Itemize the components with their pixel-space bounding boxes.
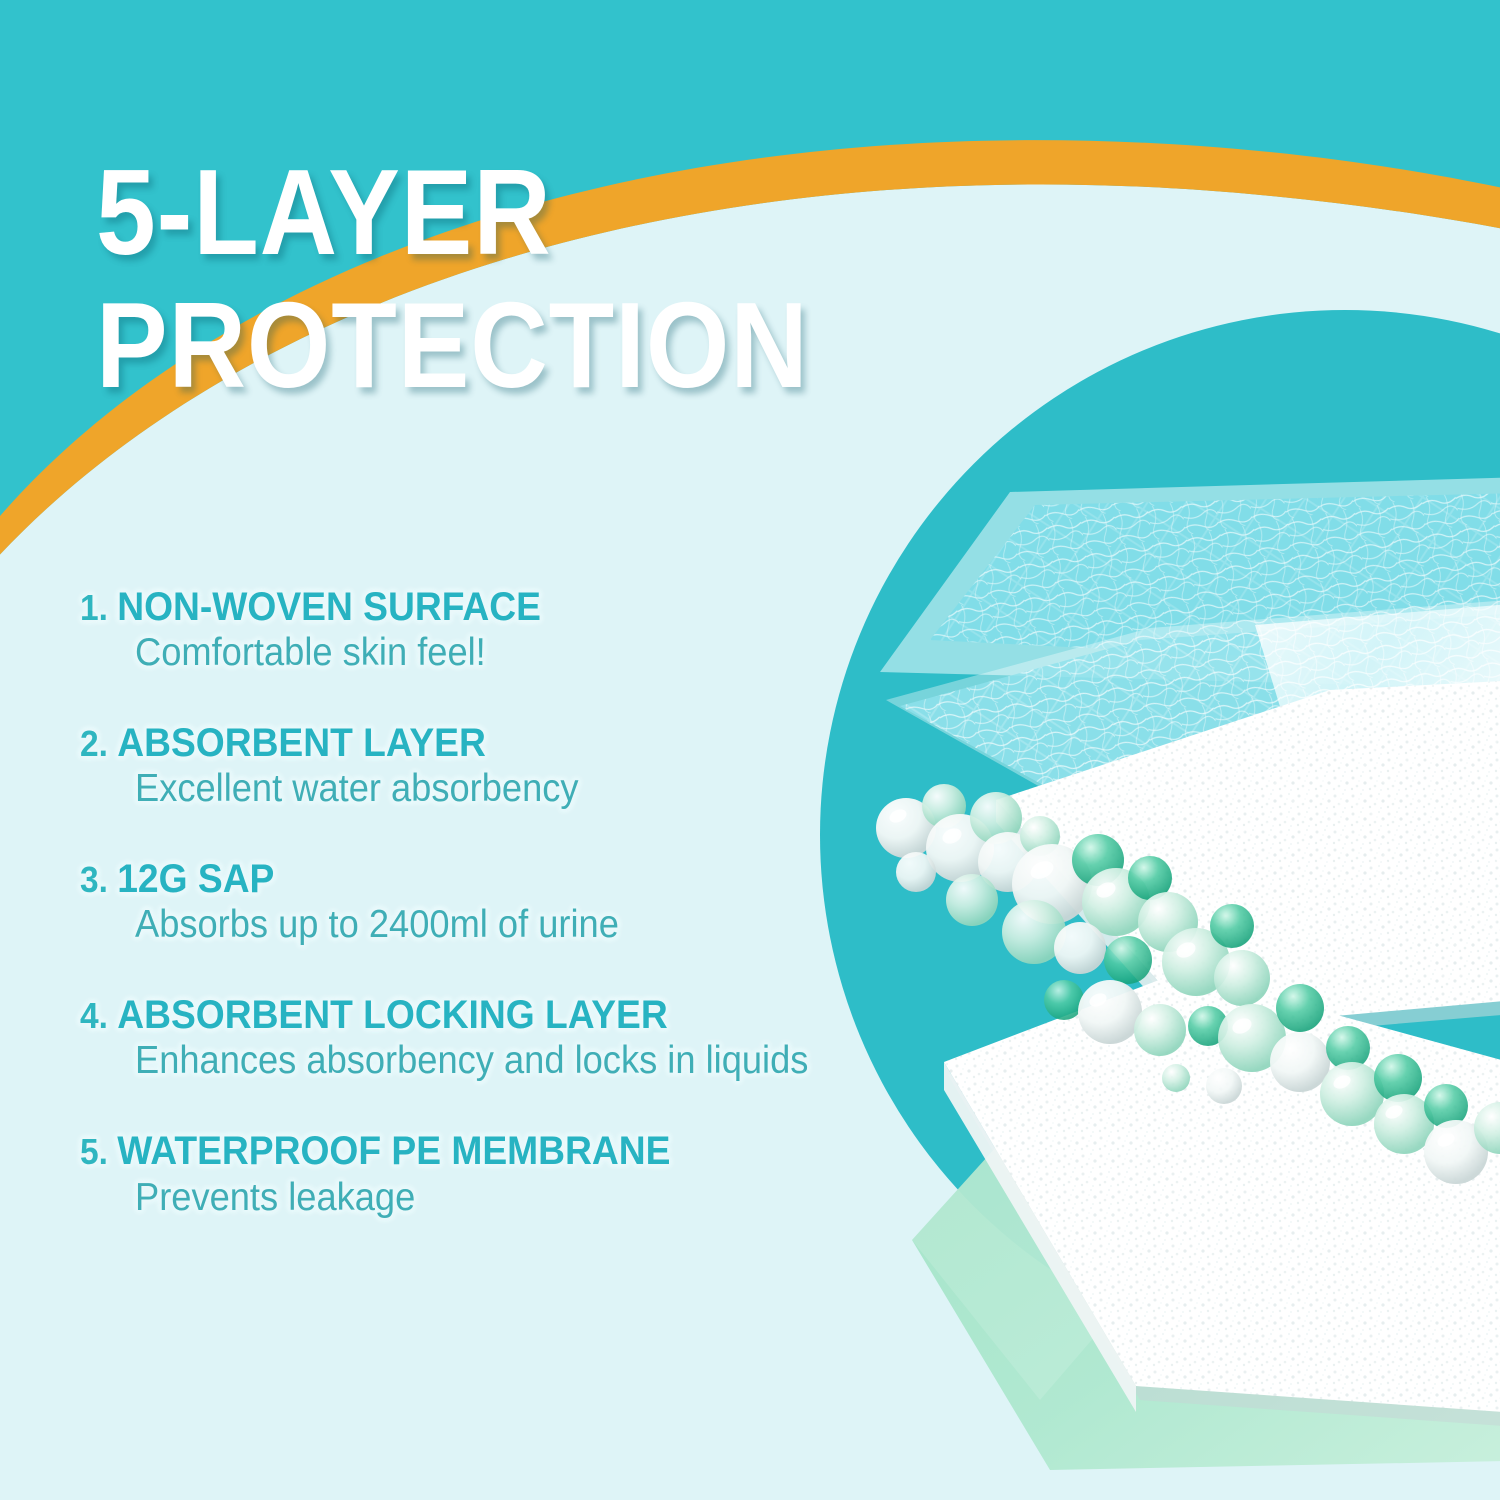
- feature-heading-text-5: WATERPROOF PE MEMBRANE: [117, 1129, 670, 1173]
- title-line-1: 5-LAYER: [96, 152, 870, 273]
- title-line-2: PROTECTION: [96, 285, 870, 406]
- feature-heading-text-4: ABSORBENT LOCKING LAYER: [117, 993, 667, 1037]
- feature-heading-text-2: ABSORBENT LAYER: [117, 721, 486, 765]
- feature-heading-2: 2.ABSORBENT LAYER: [80, 722, 898, 765]
- list-item: 5.WATERPROOF PE MEMBRANE Prevents leakag…: [80, 1130, 960, 1219]
- feature-number-4: 4.: [80, 995, 117, 1036]
- list-item: 4.ABSORBENT LOCKING LAYER Enhances absor…: [80, 994, 960, 1083]
- feature-subtext-4: Enhances absorbency and locks in liquids: [135, 1040, 902, 1083]
- feature-heading-4: 4.ABSORBENT LOCKING LAYER: [80, 994, 898, 1037]
- feature-number-1: 1.: [80, 587, 117, 628]
- feature-subtext-2: Excellent water absorbency: [135, 768, 902, 811]
- list-item: 2.ABSORBENT LAYER Excellent water absorb…: [80, 722, 960, 811]
- feature-subtext-5: Prevents leakage: [135, 1177, 902, 1220]
- list-item: 1.NON-WOVEN SURFACE Comfortable skin fee…: [80, 586, 960, 675]
- feature-heading-3: 3.12G SAP: [80, 858, 898, 901]
- list-item: 3.12G SAP Absorbs up to 2400ml of urine: [80, 858, 960, 947]
- feature-number-3: 3.: [80, 859, 117, 900]
- feature-heading-1: 1.NON-WOVEN SURFACE: [80, 586, 898, 629]
- feature-heading-text-3: 12G SAP: [117, 857, 274, 901]
- feature-subtext-3: Absorbs up to 2400ml of urine: [135, 904, 902, 947]
- feature-heading-5: 5.WATERPROOF PE MEMBRANE: [80, 1130, 898, 1173]
- feature-subtext-1: Comfortable skin feel!: [135, 632, 902, 675]
- page-title: 5-LAYER PROTECTION: [96, 152, 976, 406]
- feature-number-2: 2.: [80, 723, 117, 764]
- feature-number-5: 5.: [80, 1131, 117, 1172]
- feature-list: 1.NON-WOVEN SURFACE Comfortable skin fee…: [80, 586, 960, 1219]
- infographic-canvas: 5-LAYER PROTECTION 1.NON-WOVEN SURFACE C…: [0, 0, 1500, 1500]
- feature-heading-text-1: NON-WOVEN SURFACE: [117, 585, 541, 629]
